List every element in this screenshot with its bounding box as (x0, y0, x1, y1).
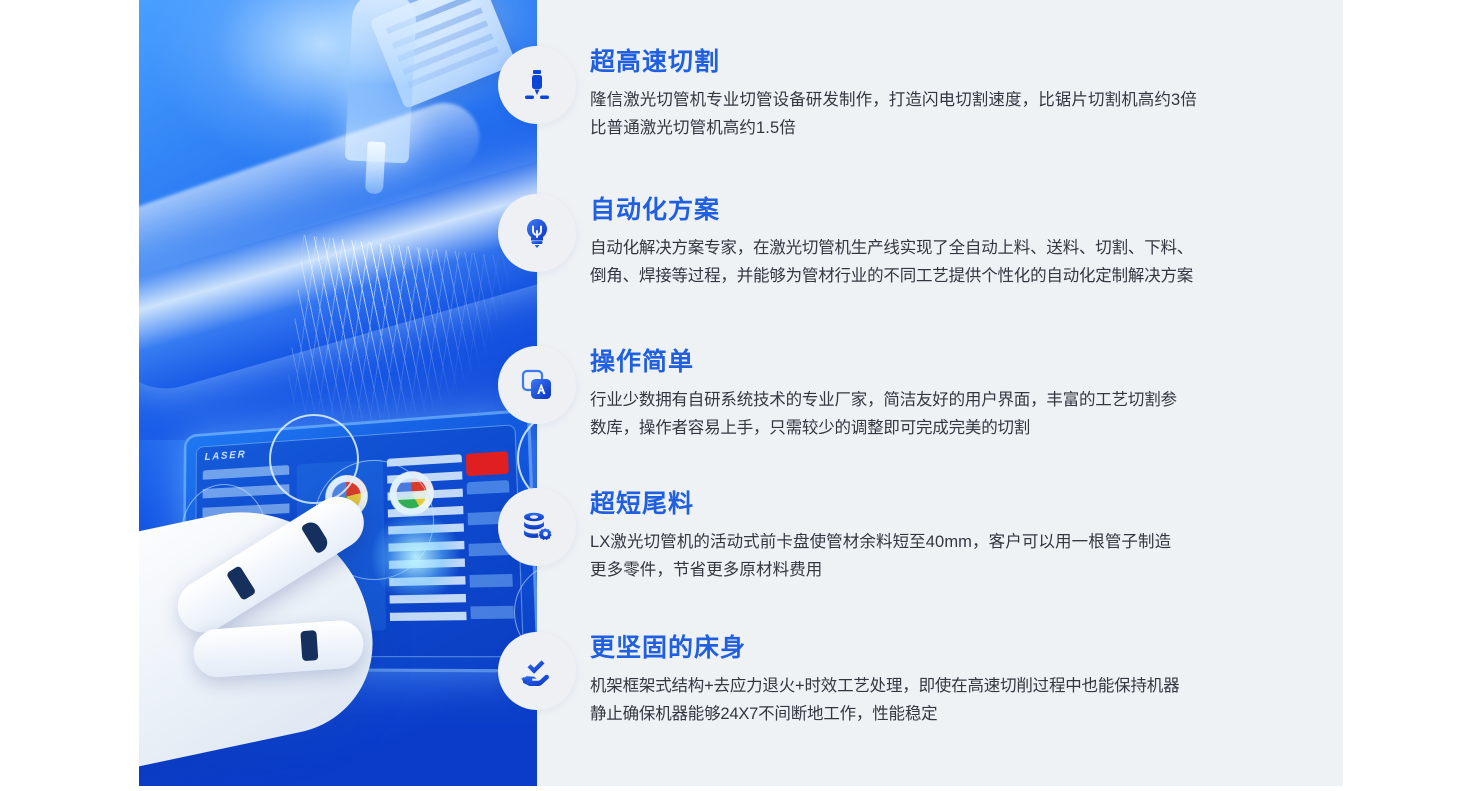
laser-cutting-head-icon (498, 46, 576, 124)
feature-title: 更坚固的床身 (590, 634, 1179, 663)
feature-description: 行业少数拥有自研系统技术的专业厂家，简洁友好的用户界面，丰富的工艺切割参 数库，… (590, 386, 1177, 443)
feature-title: 自动化方案 (590, 196, 1193, 225)
hand-check-icon (498, 632, 576, 710)
feature-item-ultra-short-remnant[interactable]: 超短尾料 LX激光切管机的活动式前卡盘使管材余料短至40mm，客户可以用一根管子… (498, 488, 1171, 585)
feature-item-ultra-high-speed-cutting[interactable]: 超高速切割 隆信激光切管机专业切管设备研发制作，打造闪电切割速度，比锯片切割机高… (498, 46, 1197, 143)
lightbulb-icon (498, 194, 576, 272)
feature-item-automation-solution[interactable]: 自动化方案 自动化解决方案专家，在激光切管机生产线实现了全自动上料、送料、切割、… (498, 194, 1193, 291)
feature-text: 操作简单 行业少数拥有自研系统技术的专业厂家，简洁友好的用户界面，丰富的工艺切割… (590, 346, 1177, 443)
feature-title: 超短尾料 (590, 490, 1171, 519)
feature-item-simple-operation[interactable]: 操作简单 行业少数拥有自研系统技术的专业厂家，简洁友好的用户界面，丰富的工艺切割… (498, 346, 1177, 443)
feature-text: 超高速切割 隆信激光切管机专业切管设备研发制作，打造闪电切割速度，比锯片切割机高… (590, 46, 1197, 143)
feature-description: LX激光切管机的活动式前卡盘使管材余料短至40mm，客户可以用一根管子制造 更多… (590, 528, 1171, 585)
app-window-a-icon (498, 346, 576, 424)
feature-description: 隆信激光切管机专业切管设备研发制作，打造闪电切割速度，比锯片切割机高约3倍 比普… (590, 86, 1197, 143)
feature-title: 操作简单 (590, 348, 1177, 377)
database-gear-icon (498, 488, 576, 566)
feature-title: 超高速切割 (590, 48, 1197, 77)
feature-text: 更坚固的床身 机架框架式结构+去应力退火+时效工艺处理，即使在高速切削过程中也能… (590, 632, 1179, 729)
feature-description: 机架框架式结构+去应力退火+时效工艺处理，即使在高速切削过程中也能保持机器 静止… (590, 672, 1179, 729)
feature-list: 超高速切割 隆信激光切管机专业切管设备研发制作，打造闪电切割速度，比锯片切割机高… (0, 0, 1480, 791)
feature-text: 超短尾料 LX激光切管机的活动式前卡盘使管材余料短至40mm，客户可以用一根管子… (590, 488, 1171, 585)
feature-text: 自动化方案 自动化解决方案专家，在激光切管机生产线实现了全自动上料、送料、切割、… (590, 194, 1193, 291)
feature-description: 自动化解决方案专家，在激光切管机生产线实现了全自动上料、送料、切割、下料、 倒角… (590, 234, 1193, 291)
promo-banner: LASER (0, 0, 1480, 791)
feature-item-stronger-bed[interactable]: 更坚固的床身 机架框架式结构+去应力退火+时效工艺处理，即使在高速切削过程中也能… (498, 632, 1179, 729)
